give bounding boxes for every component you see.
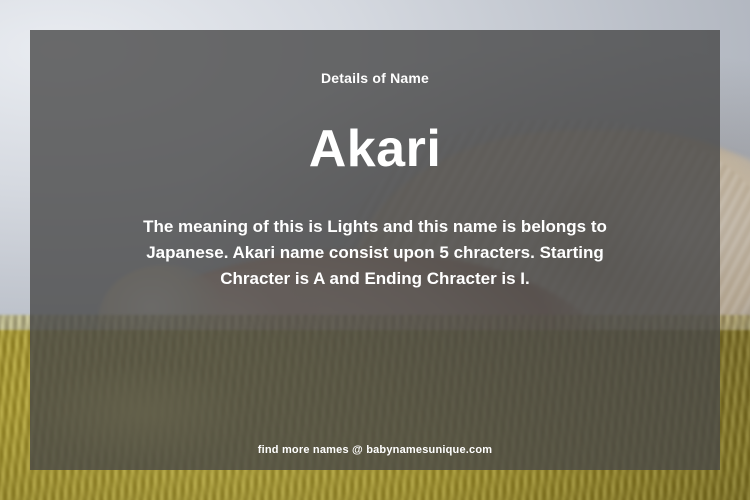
details-overlay-panel: Details of Name Akari The meaning of thi… (30, 30, 720, 470)
name-description: The meaning of this is Lights and this n… (115, 214, 635, 292)
card-kicker: Details of Name (30, 70, 720, 86)
name-title: Akari (30, 118, 720, 180)
footer-attribution: find more names @ babynamesunique.com (30, 444, 720, 456)
name-card-canvas: Details of Name Akari The meaning of thi… (0, 0, 750, 500)
